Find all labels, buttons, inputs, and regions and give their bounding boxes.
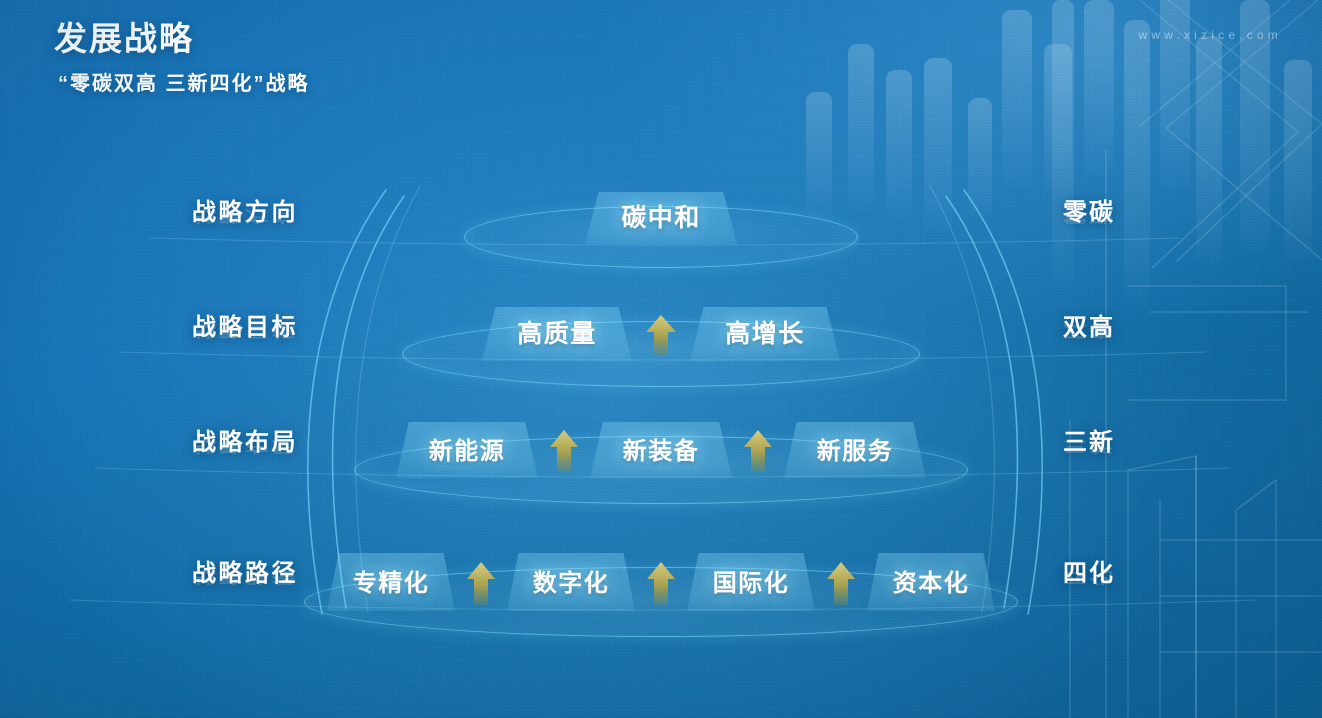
row-2-right-label: 双高 双高 [1063,307,1115,379]
pod-high-quality-label: 高质量 [517,314,597,350]
row-4-right-label-reflection: 四化 [1063,568,1115,590]
pod-high-quality[interactable]: 高质量 高质量 [482,307,632,361]
pod-new-energy-label: 新能源 [429,431,506,466]
pod-new-equipment-label: 新装备 [623,431,700,466]
pod-new-equipment[interactable]: 新装备 新装备 [590,422,732,478]
up-arrow-icon [632,307,690,361]
slide-canvas: 发展战略 “零碳双高 三新四化”战略 www.xizice.com 战略方向 战… [0,0,1322,718]
up-arrow-icon [455,553,507,611]
pod-high-growth[interactable]: 高增长 高增长 [690,307,840,361]
row-2-left-label-reflection: 战略目标 [192,322,298,344]
slide-header: 发展战略 “零碳双高 三新四化”战略 [54,18,310,96]
pod-carbon-neutral-label: 碳中和 [621,198,701,234]
up-arrow-icon [815,553,867,611]
pod-new-service-label: 新服务 [817,431,894,466]
pod-carbon-neutral[interactable]: 碳中和 碳中和 [585,192,737,244]
row-1-left-label: 战略方向 战略方向 [192,192,298,264]
row-1-right-label-reflection: 零碳 [1063,207,1115,229]
row-3-right-label-reflection: 三新 [1063,437,1115,459]
row-1-left-label-reflection: 战略方向 [192,207,298,229]
row-1-right-label: 零碳 零碳 [1063,192,1115,264]
up-arrow-icon [732,422,784,478]
site-watermark: www.xizice.com [1139,28,1282,42]
strategy-row-4: 战略路径 战略路径 专精化 专精化 [0,553,1322,673]
row-3-right-label: 三新 三新 [1063,422,1115,494]
pod-new-energy[interactable]: 新能源 新能源 [396,422,538,478]
row-2-right-label-reflection: 双高 [1063,322,1115,344]
up-arrow-icon [538,422,590,478]
row-3-left-label: 战略布局 战略布局 [192,422,298,494]
pod-new-service[interactable]: 新服务 新服务 [784,422,926,478]
pod-specialization[interactable]: 专精化 专精化 [327,553,455,611]
pod-internationalization[interactable]: 国际化 国际化 [687,553,815,611]
strategy-row-3: 战略布局 战略布局 新能源 新能源 [0,422,1322,542]
strategy-row-1: 战略方向 战略方向 碳中和 碳中和 零碳 零碳 [0,192,1322,312]
pod-digitalization-label: 数字化 [533,563,610,598]
page-title: 发展战略 [54,18,310,60]
pod-internationalization-label: 国际化 [713,563,790,598]
pod-capitalization-label: 资本化 [893,563,970,598]
pod-digitalization[interactable]: 数字化 数字化 [507,553,635,611]
strategy-row-2: 战略目标 战略目标 高质量 高质量 [0,307,1322,427]
row-4-left-label-reflection: 战略路径 [192,568,298,590]
row-3-pods: 新能源 新能源 新装备 新装备 [396,422,926,478]
pod-high-growth-label: 高增长 [725,314,805,350]
row-4-pods: 专精化 专精化 数字化 数字化 [327,553,995,611]
row-4-right-label: 四化 四化 [1063,553,1115,625]
row-2-pods: 高质量 高质量 高增长 高增长 [482,307,840,361]
pod-specialization-label: 专精化 [353,563,430,598]
row-3-left-label-reflection: 战略布局 [192,437,298,459]
pod-capitalization[interactable]: 资本化 资本化 [867,553,995,611]
row-4-left-label: 战略路径 战略路径 [192,553,298,625]
row-1-pods: 碳中和 碳中和 [585,192,737,244]
row-2-left-label: 战略目标 战略目标 [192,307,298,379]
up-arrow-icon [635,553,687,611]
page-subtitle: “零碳双高 三新四化”战略 [58,67,310,96]
